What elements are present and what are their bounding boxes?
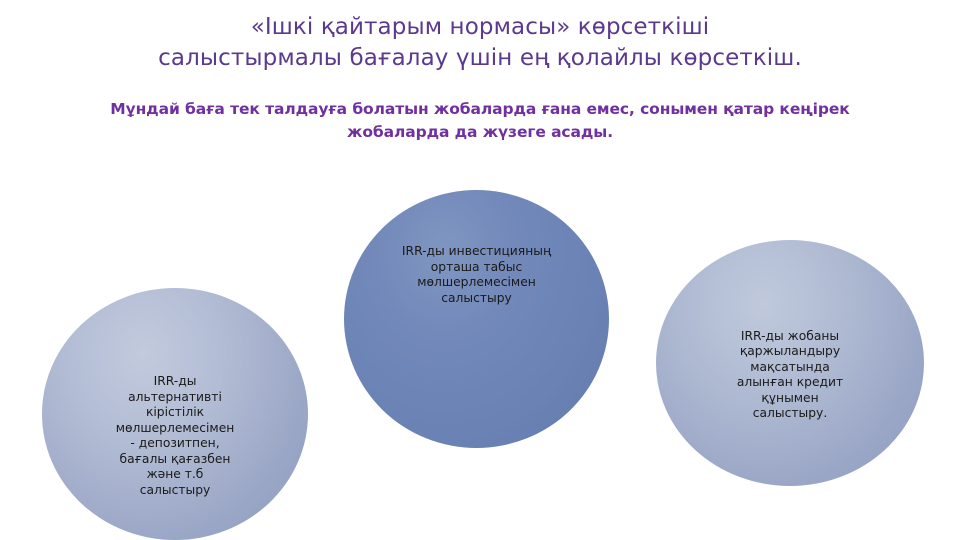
diagram-circle-average-return-rate-label: IRR-ды инвестицияның орташа табыс мөлшер… [349,244,604,306]
diagram-circle-credit-cost-label: IRR-ды жобаны қаржыландыру мақсатында ал… [666,329,914,422]
page-subtitle-line-1: Мұндай баға тек талдауға болатын жобалар… [78,98,882,121]
diagram-circle-alternative-yield-label: IRR-ды альтернативті кірістілік мөлшерле… [50,374,300,498]
diagram-circle-alternative-yield: IRR-ды альтернативті кірістілік мөлшерле… [42,288,308,540]
page-title-line-2: салыстырмалы бағалау үшін ең қолайлы көр… [78,43,882,74]
page-subtitle-line-2: жобаларда да жүзеге асады. [78,121,882,144]
slide-canvas: «Ішкі қайтарым нормасы» көрсеткіші салыс… [0,0,960,540]
page-subtitle: Мұндай баға тек талдауға болатын жобалар… [78,98,882,144]
page-title-line-1: «Ішкі қайтарым нормасы» көрсеткіші [78,12,882,43]
page-title: «Ішкі қайтарым нормасы» көрсеткіші салыс… [78,12,882,74]
diagram-circle-average-return-rate: IRR-ды инвестицияның орташа табыс мөлшер… [344,190,609,448]
diagram-circle-credit-cost: IRR-ды жобаны қаржыландыру мақсатында ал… [656,240,924,486]
